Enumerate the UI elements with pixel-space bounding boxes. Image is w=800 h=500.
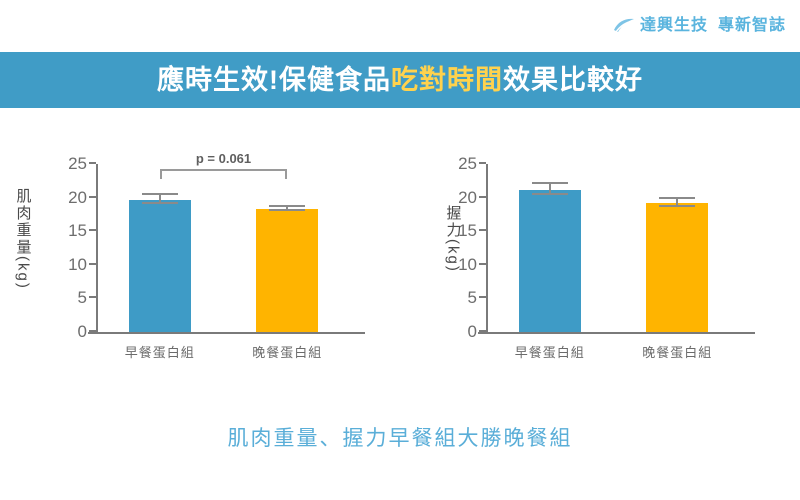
error-bar-cap <box>142 193 178 195</box>
y-tick <box>479 296 486 298</box>
brand-tagline: 專新智誌 <box>718 18 786 34</box>
y-tick-label: 5 <box>468 288 477 308</box>
charts-container: 肌肉重量(kg) 0510152025p = 0.061 早餐蛋白組 晚餐蛋白組… <box>0 140 800 390</box>
y-tick-label: 15 <box>68 221 87 241</box>
chart-muscle-mass: 肌肉重量(kg) 0510152025p = 0.061 早餐蛋白組 晚餐蛋白組 <box>0 140 400 390</box>
y-tick-label: 10 <box>68 255 87 275</box>
y-tick-label: 20 <box>458 188 477 208</box>
y-tick-label: 25 <box>68 154 87 174</box>
chart-grip-strength: 握力(kg) 0510152025 早餐蛋白組 晚餐蛋白組 <box>400 140 800 390</box>
x-label-dinner: 晚餐蛋白組 <box>224 342 352 361</box>
error-bar-cap <box>532 182 568 184</box>
y-tick-label: 20 <box>68 188 87 208</box>
y-tick <box>89 263 96 265</box>
x-axis-labels-1: 早餐蛋白組 晚餐蛋白組 <box>96 342 351 361</box>
y-tick <box>479 162 486 164</box>
y-tick <box>89 162 96 164</box>
title-segment-1: 應時生效!保健食品 <box>157 65 391 95</box>
bar-dinner <box>646 203 708 332</box>
figure-caption: 肌肉重量、握力早餐組大勝晚餐組 <box>0 428 800 449</box>
y-tick-label: 10 <box>458 255 477 275</box>
brand-name: 達興生技 <box>640 18 708 34</box>
error-bar-cap <box>659 205 695 207</box>
error-bar-cap <box>659 197 695 199</box>
y-tick <box>89 296 96 298</box>
x-axis-labels-2: 早餐蛋白組 晚餐蛋白組 <box>486 342 741 361</box>
bar-dinner <box>256 209 318 332</box>
y-axis-line <box>486 164 488 334</box>
y-tick-label: 25 <box>458 154 477 174</box>
plot-area-1: 0510152025p = 0.061 <box>96 164 351 334</box>
y-tick <box>479 263 486 265</box>
brand-header: 達興生技 專新智誌 <box>613 12 786 40</box>
title-banner: 應時生效!保健食品吃對時間效果比較好 <box>0 52 800 108</box>
y-tick-label: 15 <box>458 221 477 241</box>
y-tick <box>89 330 96 332</box>
brand-logo: 達興生技 <box>613 17 708 35</box>
bar-breakfast <box>129 200 191 332</box>
bracket-leg <box>285 169 287 179</box>
x-axis-line <box>478 332 755 334</box>
y-tick-label: 0 <box>78 322 87 342</box>
error-bar-cap <box>269 205 305 207</box>
y-tick <box>479 330 486 332</box>
x-axis-line <box>88 332 365 334</box>
p-value-label: p = 0.061 <box>196 151 251 166</box>
y-tick <box>479 229 486 231</box>
x-label-breakfast: 早餐蛋白組 <box>96 342 224 361</box>
bracket-top-line <box>160 169 288 171</box>
significance-bracket: p = 0.061 <box>96 180 351 181</box>
title-highlight: 吃對時間 <box>391 65 503 95</box>
error-bar-cap <box>532 193 568 195</box>
bar-breakfast <box>519 190 581 332</box>
swoosh-icon <box>613 17 635 35</box>
error-bar-cap <box>142 202 178 204</box>
bracket-leg <box>160 169 162 179</box>
x-label-breakfast: 早餐蛋白組 <box>486 342 614 361</box>
y-tick-label: 5 <box>78 288 87 308</box>
plot-area-2: 0510152025 <box>486 164 741 334</box>
x-label-dinner: 晚餐蛋白組 <box>614 342 742 361</box>
y-tick-label: 0 <box>468 322 477 342</box>
y-axis-line <box>96 164 98 334</box>
page-title: 應時生效!保健食品吃對時間效果比較好 <box>157 67 643 94</box>
y-tick <box>89 229 96 231</box>
error-bar-cap <box>269 209 305 211</box>
y-axis-title-label: 肌肉重量(kg) <box>13 188 34 290</box>
y-tick <box>89 196 96 198</box>
y-tick <box>479 196 486 198</box>
y-axis-title: 肌肉重量(kg) <box>6 154 40 324</box>
title-segment-2: 效果比較好 <box>503 65 643 95</box>
